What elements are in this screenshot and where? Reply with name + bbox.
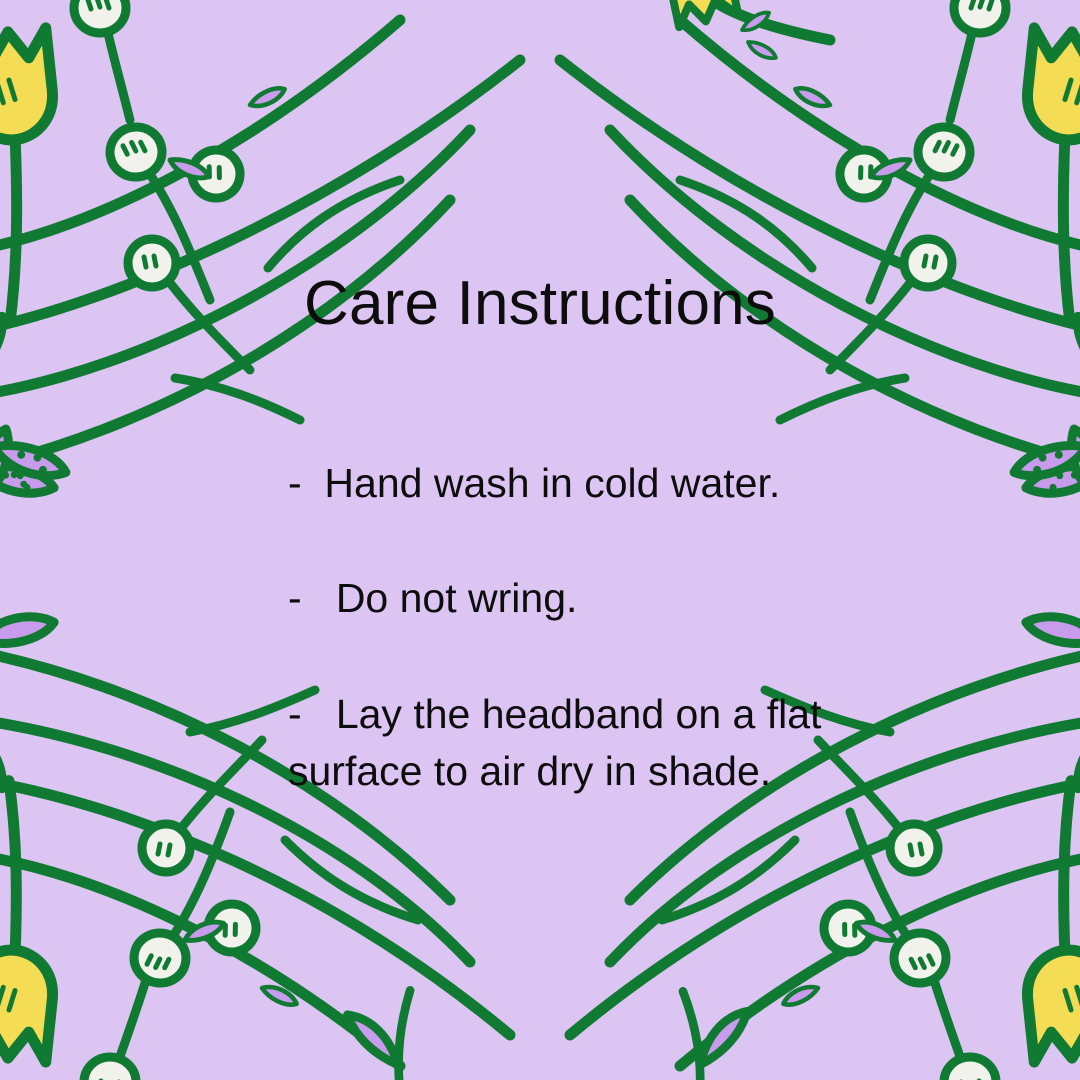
page-title: Care Instructions [0, 270, 1080, 338]
care-instructions-card: Care Instructions - Hand wash in cold wa… [0, 0, 1080, 1080]
instruction-item-2: - Do not wring. [288, 570, 908, 627]
instructions-list: - Hand wash in cold water. - Do not wrin… [288, 455, 908, 801]
instruction-item-3: - Lay the headband on a flat surface to … [288, 686, 908, 801]
instruction-item-1: - Hand wash in cold water. [288, 455, 908, 512]
